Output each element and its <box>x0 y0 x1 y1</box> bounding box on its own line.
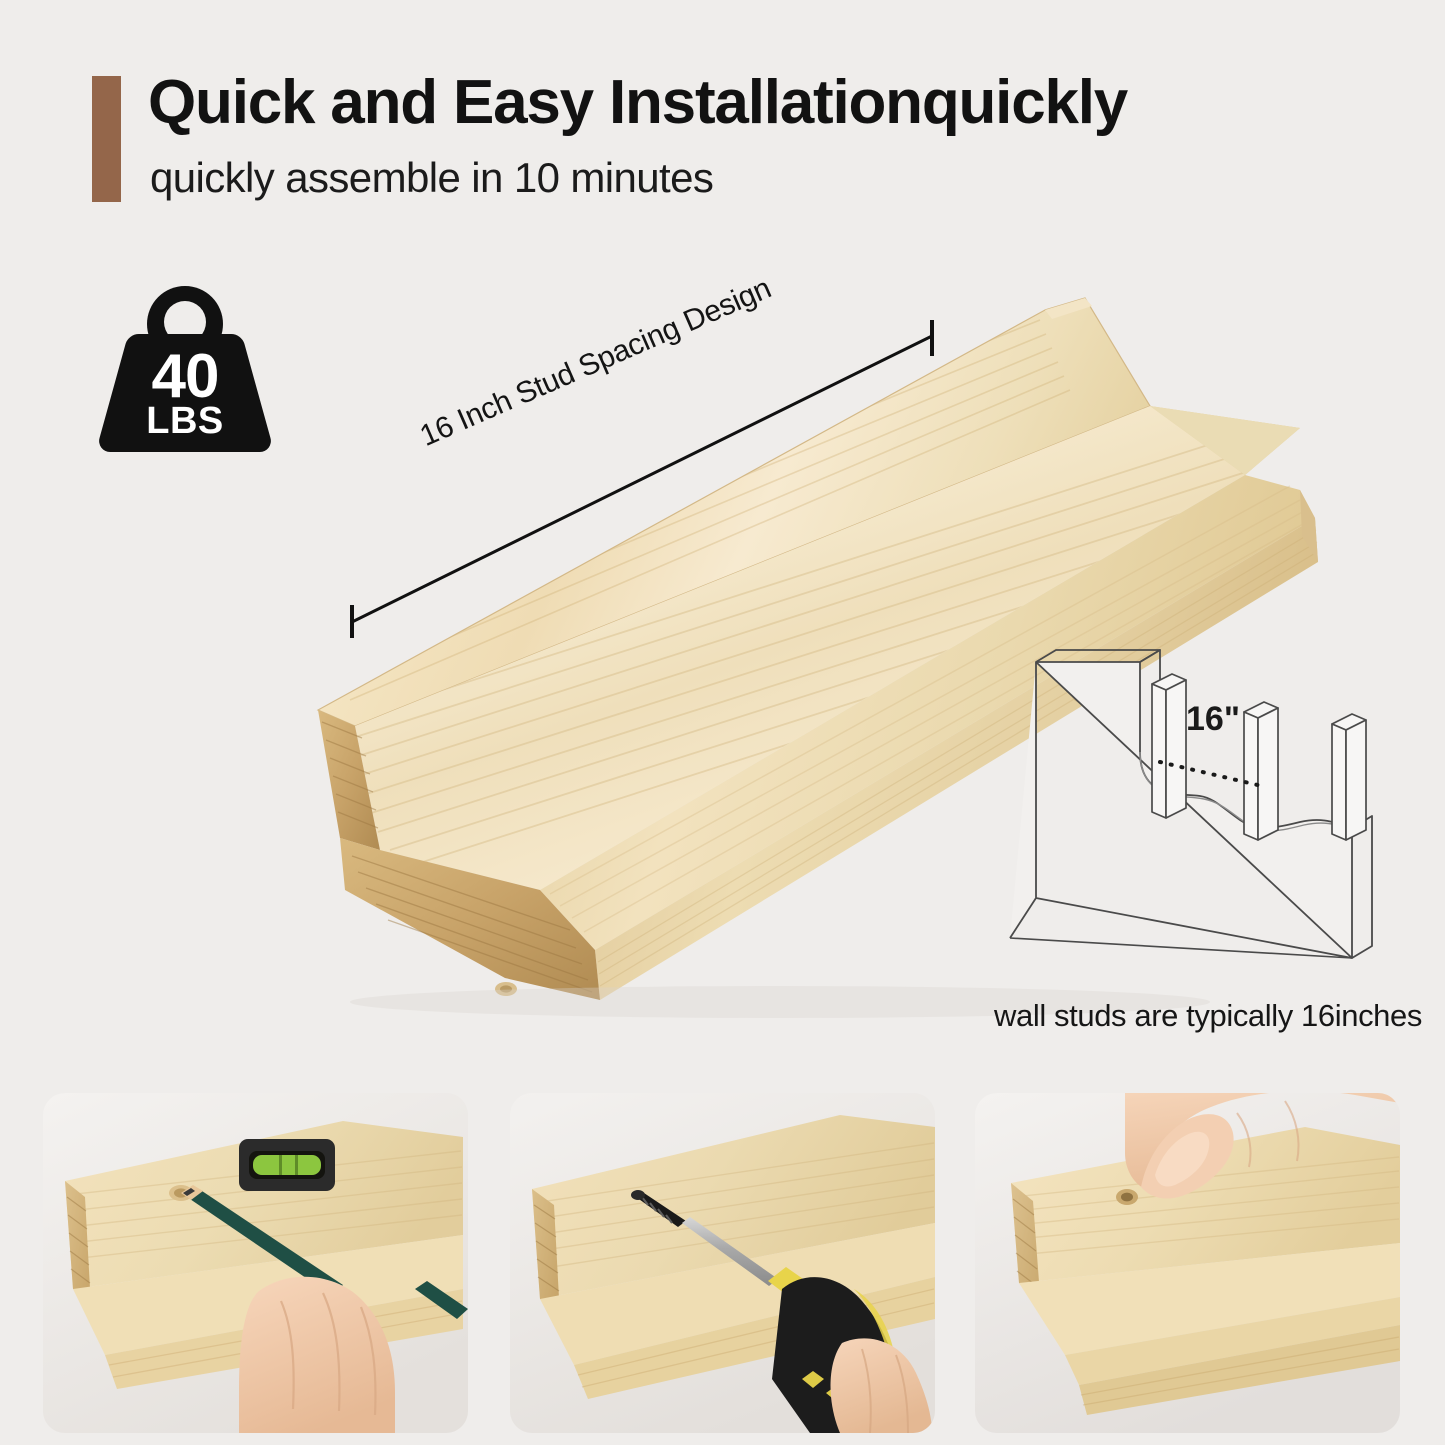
step-panel-mark-hole <box>43 1093 468 1433</box>
mounting-hole <box>1116 1189 1138 1205</box>
step-panel-drive-screw <box>510 1093 935 1433</box>
step-1-illustration <box>43 1093 468 1433</box>
stud-spacing-label: 16" <box>1186 702 1240 736</box>
wall-stud-diagram: 16" <box>1000 640 1420 970</box>
step-3-illustration <box>975 1093 1400 1433</box>
bubble-level-icon <box>239 1139 335 1191</box>
header: Quick and Easy Installationquickly quick… <box>0 0 1445 230</box>
wall-cutaway-illustration <box>1000 640 1420 970</box>
step-2-illustration <box>510 1093 935 1433</box>
dimension-callout: 16 Inch Stud Spacing Design <box>330 300 970 660</box>
stud-2 <box>1244 702 1278 840</box>
installation-steps <box>0 1093 1445 1438</box>
page-subtitle: quickly assemble in 10 minutes <box>150 155 713 201</box>
stud-1 <box>1152 674 1186 818</box>
stud-diagram-caption: wall studs are typically 16inches <box>988 1000 1428 1031</box>
stud-3 <box>1332 714 1366 840</box>
infographic-page: Quick and Easy Installationquickly quick… <box>0 0 1445 1445</box>
accent-bar <box>92 76 121 202</box>
step-panel-place-shelf <box>975 1093 1400 1433</box>
page-title: Quick and Easy Installationquickly <box>148 72 1127 134</box>
